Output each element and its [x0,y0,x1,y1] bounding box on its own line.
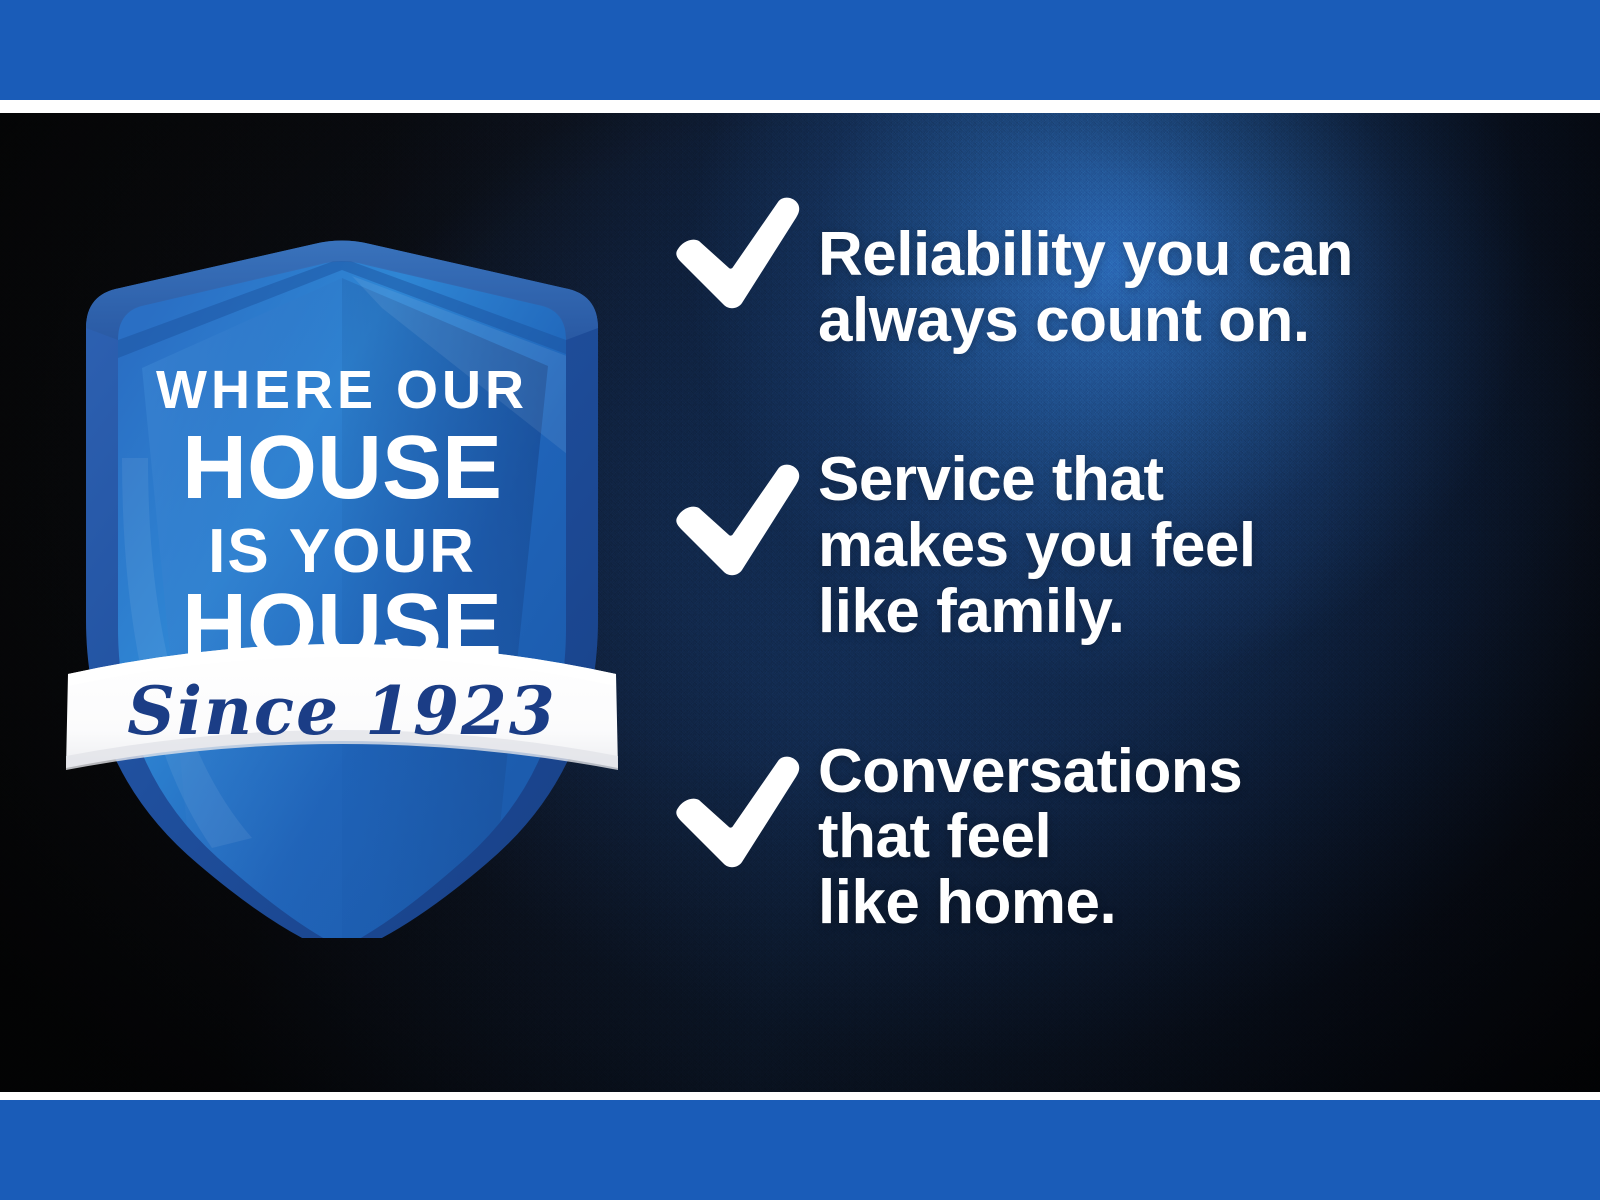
checkmark-icon [672,461,804,579]
bottom-brand-band [0,1100,1600,1200]
tagline-line-1: WHERE OUR [156,360,528,420]
benefits-list: Reliability you can always count on. Ser… [672,180,1572,936]
list-item-label: Conversations that feel like home. [818,711,1242,936]
checkmark-icon [672,753,804,871]
promo-graphic-canvas: WHERE OUR HOUSE IS YOUR HOUSE Since 1923 [0,0,1600,1200]
since-ribbon-text: Since 1923 [127,672,557,750]
since-1923-shield-badge: WHERE OUR HOUSE IS YOUR HOUSE Since 1923 [52,158,632,938]
top-brand-band [0,0,1600,100]
tagline-line-2: HOUSE [182,418,502,518]
checkmark-icon [672,194,804,312]
shield-tagline: WHERE OUR HOUSE IS YOUR HOUSE [156,360,528,676]
list-item-label: Reliability you can always count on. [818,180,1353,353]
list-item: Service that makes you feel like family. [672,419,1572,644]
list-item: Conversations that feel like home. [672,711,1572,936]
list-item-label: Service that makes you feel like family. [818,419,1256,644]
list-item: Reliability you can always count on. [672,180,1572,353]
